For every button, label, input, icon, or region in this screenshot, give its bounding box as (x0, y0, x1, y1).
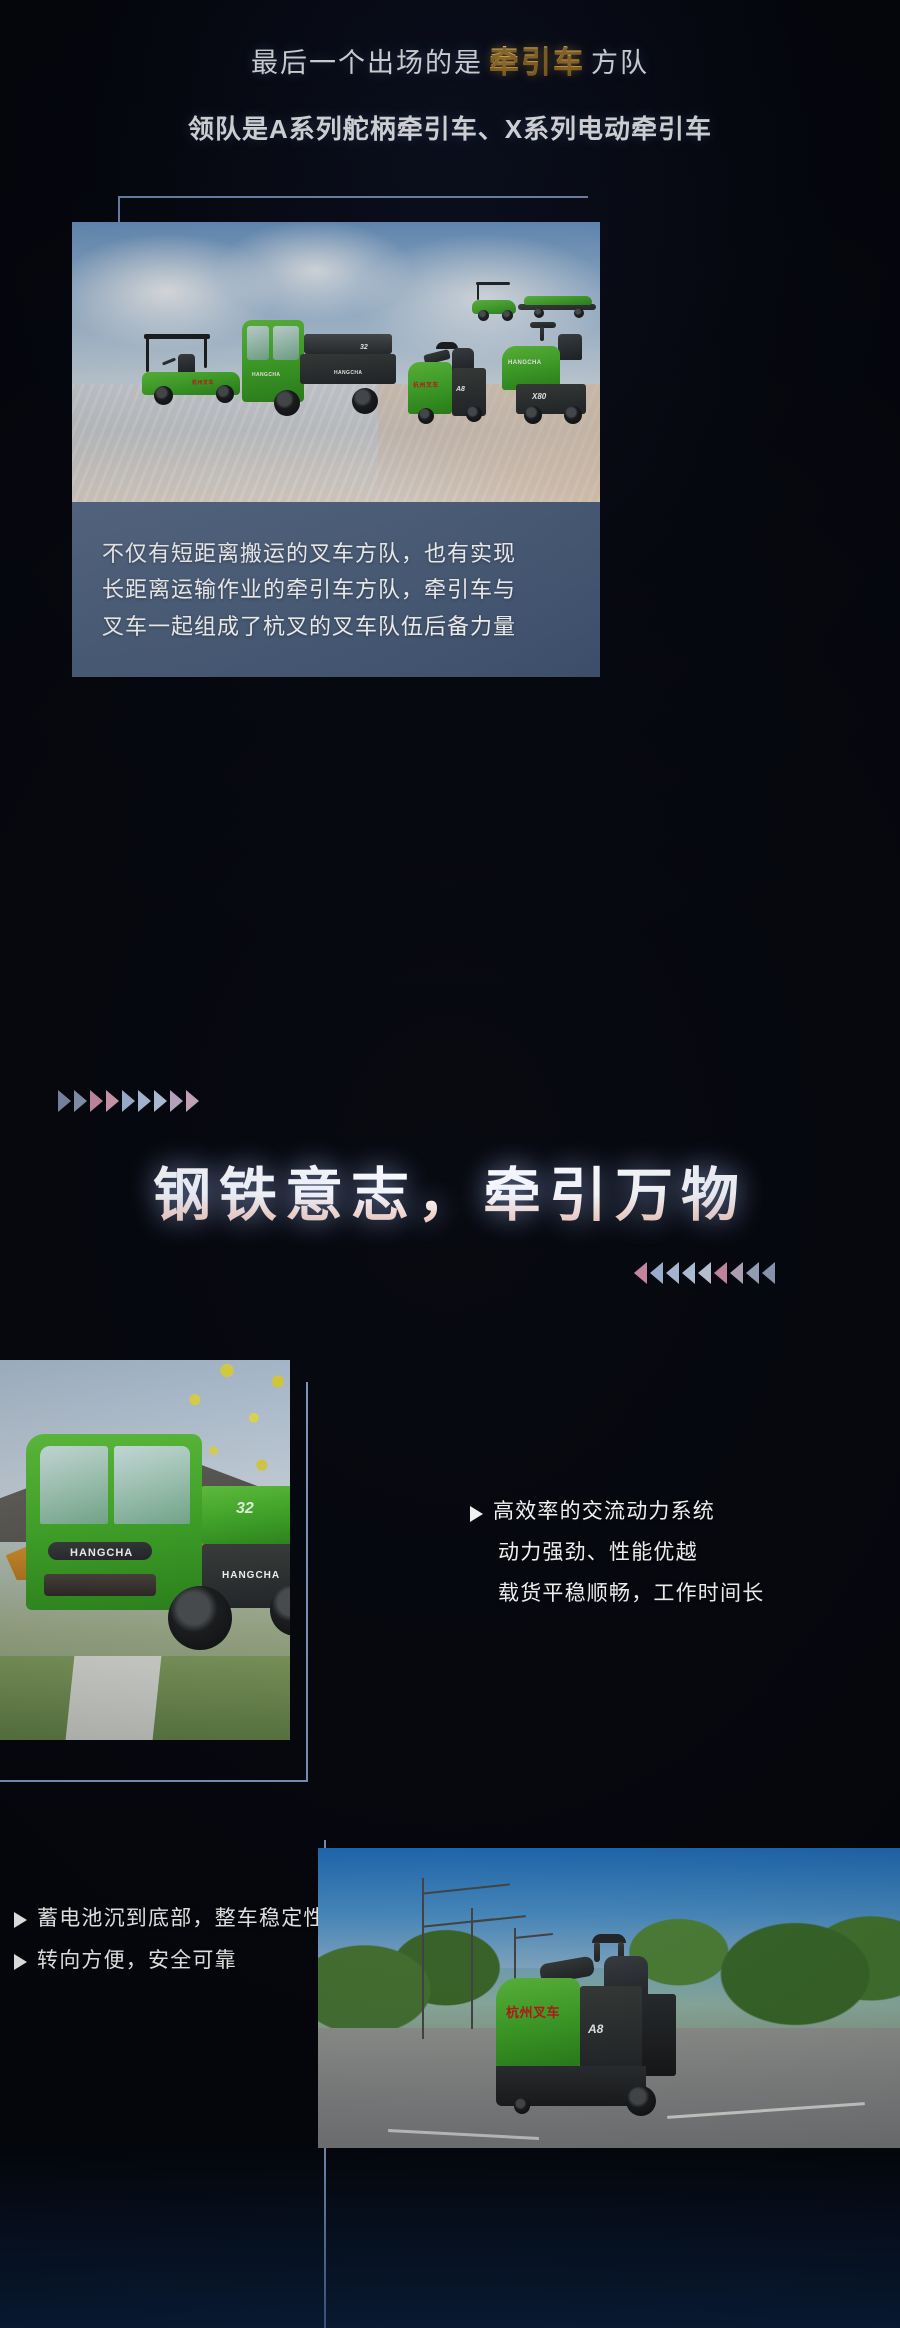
chevron-right-icon (170, 1090, 183, 1112)
chevron-left-icon (666, 1262, 679, 1284)
hero-caption: 不仅有短距离搬运的叉车方队，也有实现 长距离运输作业的牵引车方队，牵引车与 叉车… (72, 502, 600, 677)
bullet-text: 动力强劲、性能优越 (498, 1533, 698, 1574)
feature-vehicle-1: HANGCHA 32 HANGCHA (18, 1434, 290, 1684)
chevron-left-icon (714, 1262, 727, 1284)
vehicle-tow-tractor-5 (470, 282, 600, 330)
caption-line-1: 不仅有短距离搬运的叉车方队，也有实现 (102, 536, 570, 572)
bottom-gradient-overlay (0, 2148, 900, 2328)
chevron-left-icon (650, 1262, 663, 1284)
chevron-right-icon (58, 1090, 71, 1112)
triangle-bullet-icon (14, 1912, 27, 1928)
slogan-text: 钢铁意志，牵引万物 (0, 1148, 900, 1232)
chevron-right-icon (186, 1090, 199, 1112)
feature-photo-1: HANGCHA 32 HANGCHA (0, 1360, 290, 1740)
chevron-right-icon (74, 1090, 87, 1112)
poster-root: 最后一个出场的是牵引车方队 领队是A系列舵柄牵引车、X系列电动牵引车 杭州叉车 (0, 0, 900, 2328)
chevron-right-icon (106, 1090, 119, 1112)
triangle-bullet-icon (470, 1506, 483, 1522)
chevron-right-icon (90, 1090, 103, 1112)
chevron-left-icon (698, 1262, 711, 1284)
headline-prefix: 最后一个出场的是 (251, 48, 483, 78)
feature-bullets-1: 高效率的交流动力系统 动力强劲、性能优越 载货平稳顺畅，工作时间长 (470, 1492, 890, 1615)
feature-vehicle-2: 杭州叉车 A8 (496, 1934, 696, 2132)
chevron-left-icon (746, 1262, 759, 1284)
caption-line-2: 长距离运输作业的牵引车方队，牵引车与 (102, 572, 570, 608)
caption-line-3: 叉车一起组成了杭叉的叉车队伍后备力量 (102, 609, 570, 645)
chevron-left-icon (730, 1262, 743, 1284)
headline-secondary: 领队是A系列舵柄牵引车、X系列电动牵引车 (0, 111, 900, 147)
bullet-text: 转向方便，安全可靠 (37, 1940, 237, 1982)
bullet-text: 高效率的交流动力系统 (493, 1492, 715, 1533)
chevron-left-icon (762, 1262, 775, 1284)
header-block: 最后一个出场的是牵引车方队 领队是A系列舵柄牵引车、X系列电动牵引车 (0, 40, 900, 147)
vehicle-tow-tractor-3: 杭州叉车 A8 (408, 342, 500, 434)
headline-primary: 最后一个出场的是牵引车方队 (0, 40, 900, 85)
vehicle-tow-tractor-4: HANGCHA X80 (502, 322, 600, 434)
chevron-right-icon (122, 1090, 135, 1112)
chevron-right-icon (154, 1090, 167, 1112)
headline-suffix: 方队 (591, 48, 649, 78)
feature-photo-2: 杭州叉车 A8 (318, 1848, 900, 2148)
triangle-bullet-icon (14, 1954, 27, 1970)
chevron-left-icon (634, 1262, 647, 1284)
chevron-left-icon (682, 1262, 695, 1284)
vehicle-tow-tractor-1: 杭州叉车 (138, 334, 246, 406)
bullet-item: 载货平稳顺畅，工作时间长 (470, 1574, 890, 1615)
headline-highlight: 牵引车 (483, 46, 591, 79)
vehicle-tow-tractor-2: HANGCHA HANGCHA 32 (242, 314, 402, 426)
bullet-text: 蓄电池沉到底部，整车稳定性好 (37, 1898, 348, 1940)
bullet-item: 动力强劲、性能优越 (470, 1533, 890, 1574)
hero-card: 杭州叉车 HANGCHA HANGCHA 32 (72, 222, 600, 677)
hero-photo: 杭州叉车 HANGCHA HANGCHA 32 (72, 222, 600, 502)
bullet-text: 载货平稳顺畅，工作时间长 (498, 1574, 764, 1615)
bullet-item: 高效率的交流动力系统 (470, 1492, 890, 1533)
chevron-row-left (634, 1262, 775, 1284)
chevron-row-right (58, 1090, 199, 1112)
chevron-right-icon (138, 1090, 151, 1112)
